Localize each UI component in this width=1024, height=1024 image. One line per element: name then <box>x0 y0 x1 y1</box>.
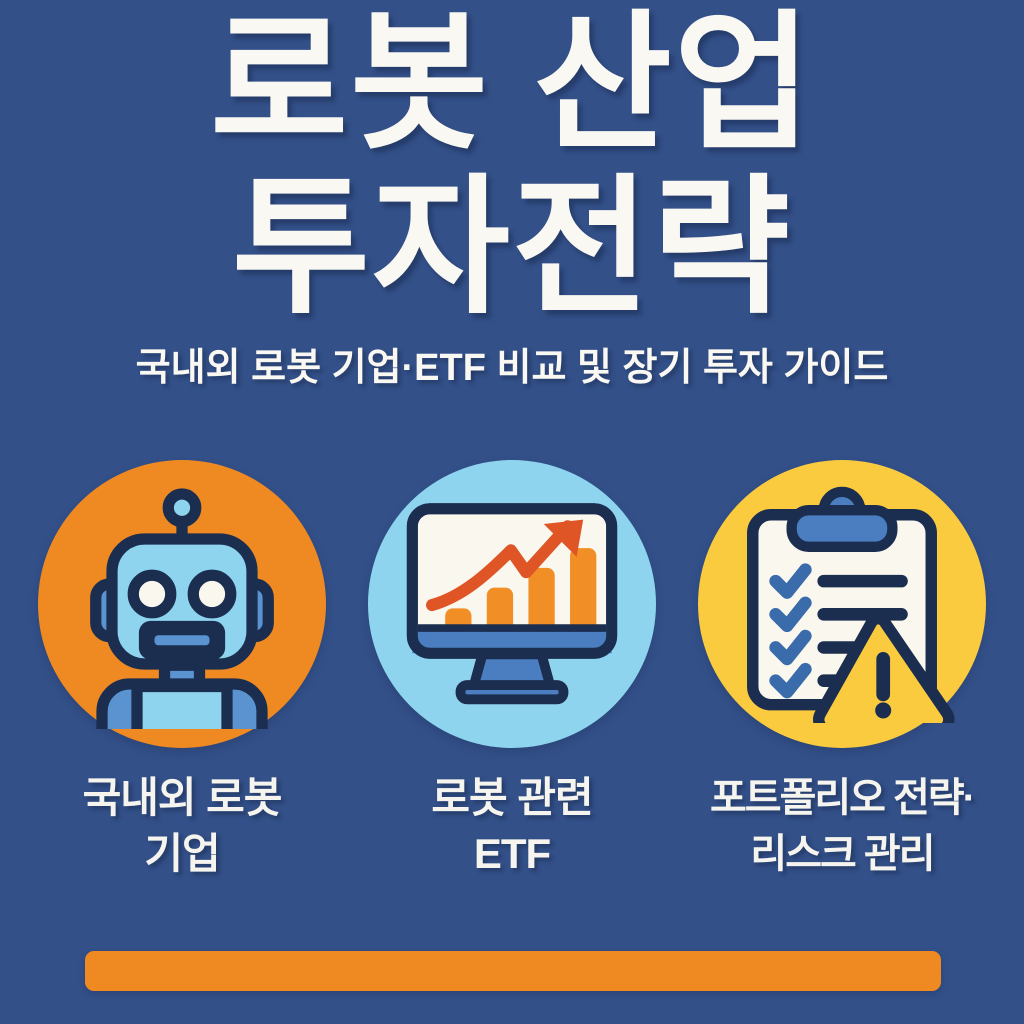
clipboard-circle <box>698 460 986 748</box>
caption-row: 국내외 로봇 기업 로봇 관련 ETF 포트폴리오 전략· 리스크 관리 <box>0 770 1024 910</box>
page-title: 로봇 산업 투자전략 <box>0 2 1024 322</box>
caption-etf: 로봇 관련 ETF <box>431 770 592 882</box>
caption-robot-line2: 기업 <box>83 826 282 882</box>
robot-circle <box>38 460 326 748</box>
caption-risk-line2: 리스크 관리 <box>710 826 974 882</box>
monitor-circle <box>368 460 656 748</box>
growth-chart-monitor-icon <box>397 499 627 709</box>
caption-robot: 국내외 로봇 기업 <box>83 770 282 882</box>
clipboard-risk-icon <box>727 485 957 723</box>
icon-cell-risk <box>697 460 987 748</box>
subtitle: 국내외 로봇 기업·ETF 비교 및 장기 투자 가이드 <box>0 345 1024 391</box>
caption-risk-line1: 포트폴리오 전략· <box>710 770 974 826</box>
bottom-accent-bar <box>85 951 941 991</box>
title-line-1: 로봇 산업 <box>60 8 964 158</box>
caption-etf-line2: ETF <box>431 826 592 882</box>
icon-cell-robot <box>37 460 327 748</box>
caption-cell-risk: 포트폴리오 전략· 리스크 관리 <box>697 770 987 910</box>
caption-etf-line1: 로봇 관련 <box>431 770 592 826</box>
caption-robot-line1: 국내외 로봇 <box>83 770 282 826</box>
title-line-2: 투자전략 <box>60 172 964 322</box>
icon-row <box>0 460 1024 760</box>
robot-icon <box>57 479 307 729</box>
icon-cell-etf <box>367 460 657 748</box>
caption-cell-robot: 국내외 로봇 기업 <box>37 770 327 910</box>
caption-risk: 포트폴리오 전략· 리스크 관리 <box>710 770 974 882</box>
poster-root: 로봇 산업 투자전략 국내외 로봇 기업·ETF 비교 및 장기 투자 가이드 <box>0 0 1024 1024</box>
caption-cell-etf: 로봇 관련 ETF <box>367 770 657 910</box>
